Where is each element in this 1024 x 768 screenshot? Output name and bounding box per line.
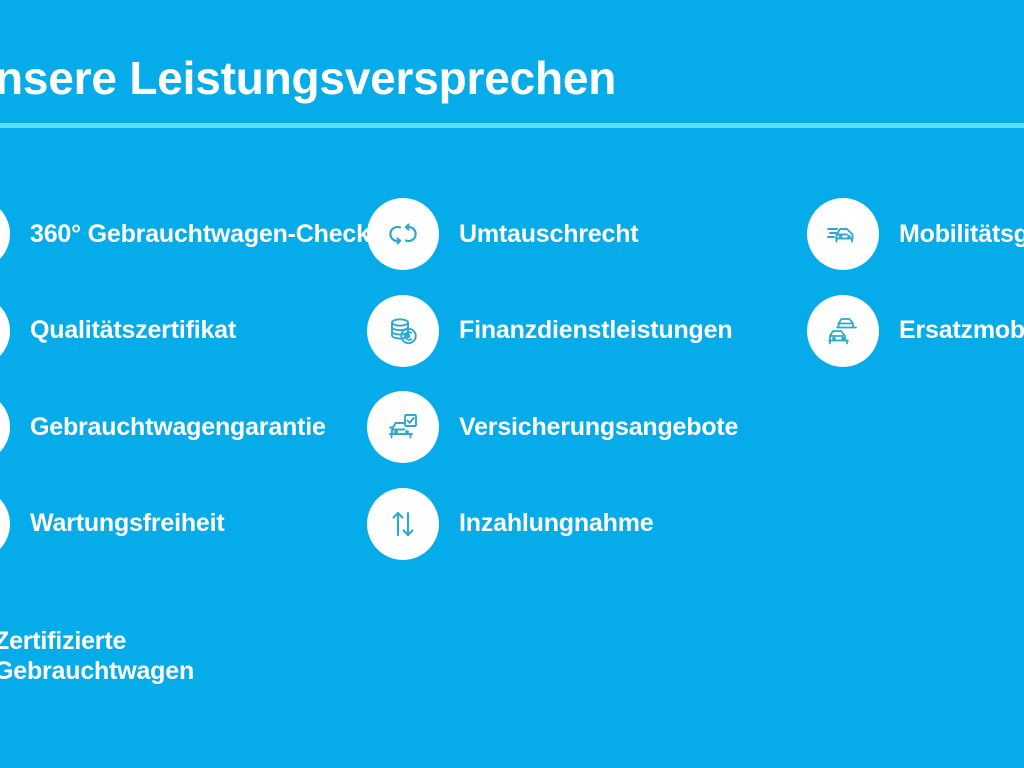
- list-item[interactable]: Wartungsfreiheit: [0, 476, 358, 573]
- list-item-label: Ersatzmobilität: [899, 316, 1024, 345]
- list-item-label: Finanzdienstleistungen: [459, 316, 732, 345]
- page-title: Unsere Leistungsversprechen: [0, 51, 616, 105]
- wrench-icon: [0, 488, 10, 560]
- certificate-icon: [0, 295, 10, 367]
- benefits-grid: 360° Gebrauchtwagen-Check Qualitätszerti…: [0, 186, 1024, 576]
- list-item-label: Gebrauchtwagengarantie: [30, 413, 326, 442]
- title-divider: [0, 123, 1024, 128]
- list-item[interactable]: Gebrauchtwagengarantie: [0, 379, 358, 476]
- list-item-label: Umtauschrecht: [459, 220, 638, 249]
- list-item[interactable]: Versicherungsangebote: [367, 379, 797, 476]
- car-checkmark-icon: [367, 391, 439, 463]
- footer-wordmark-line2: Gebrauchtwagen: [0, 656, 194, 686]
- list-item[interactable]: 360° Gebrauchtwagen-Check: [0, 186, 358, 283]
- footer-wordmark: Zertifizierte Gebrauchtwagen: [0, 626, 194, 686]
- list-item[interactable]: Qualitätszertifikat: [0, 283, 358, 380]
- benefits-column-3: Mobilitätsgarantie E: [807, 186, 1024, 379]
- list-item[interactable]: Umtauschrecht: [367, 186, 797, 283]
- list-item[interactable]: Finanzdienstleistungen: [367, 283, 797, 380]
- footer-wordmark-line1: Zertifizierte: [0, 626, 194, 656]
- benefits-column-2: Umtauschrecht Finanzdienstleistun: [367, 186, 797, 572]
- list-item-label: Qualitätszertifikat: [30, 316, 236, 345]
- magnifier-car-icon: [0, 198, 10, 270]
- list-item-label: Inzahlungnahme: [459, 509, 653, 538]
- two-cars-icon: [807, 295, 879, 367]
- list-item[interactable]: Ersatzmobilität: [807, 283, 1024, 380]
- list-item[interactable]: Inzahlungnahme: [367, 476, 797, 573]
- coins-euro-icon: [367, 295, 439, 367]
- slide-root: Unsere Leistungsversprechen 360° Gebrauc…: [0, 0, 1024, 768]
- list-item-label: Mobilitätsgarantie: [899, 220, 1024, 249]
- list-item-label: Versicherungsangebote: [459, 413, 738, 442]
- shield-car-icon: [0, 391, 10, 463]
- list-item[interactable]: Mobilitätsgarantie: [807, 186, 1024, 283]
- up-down-arrows-icon: [367, 488, 439, 560]
- list-item-label: Wartungsfreiheit: [30, 509, 225, 538]
- exchange-arrows-icon: [367, 198, 439, 270]
- benefits-column-1: 360° Gebrauchtwagen-Check Qualitätszerti…: [0, 186, 358, 572]
- list-item-label: 360° Gebrauchtwagen-Check: [30, 220, 370, 249]
- car-speed-icon: [807, 198, 879, 270]
